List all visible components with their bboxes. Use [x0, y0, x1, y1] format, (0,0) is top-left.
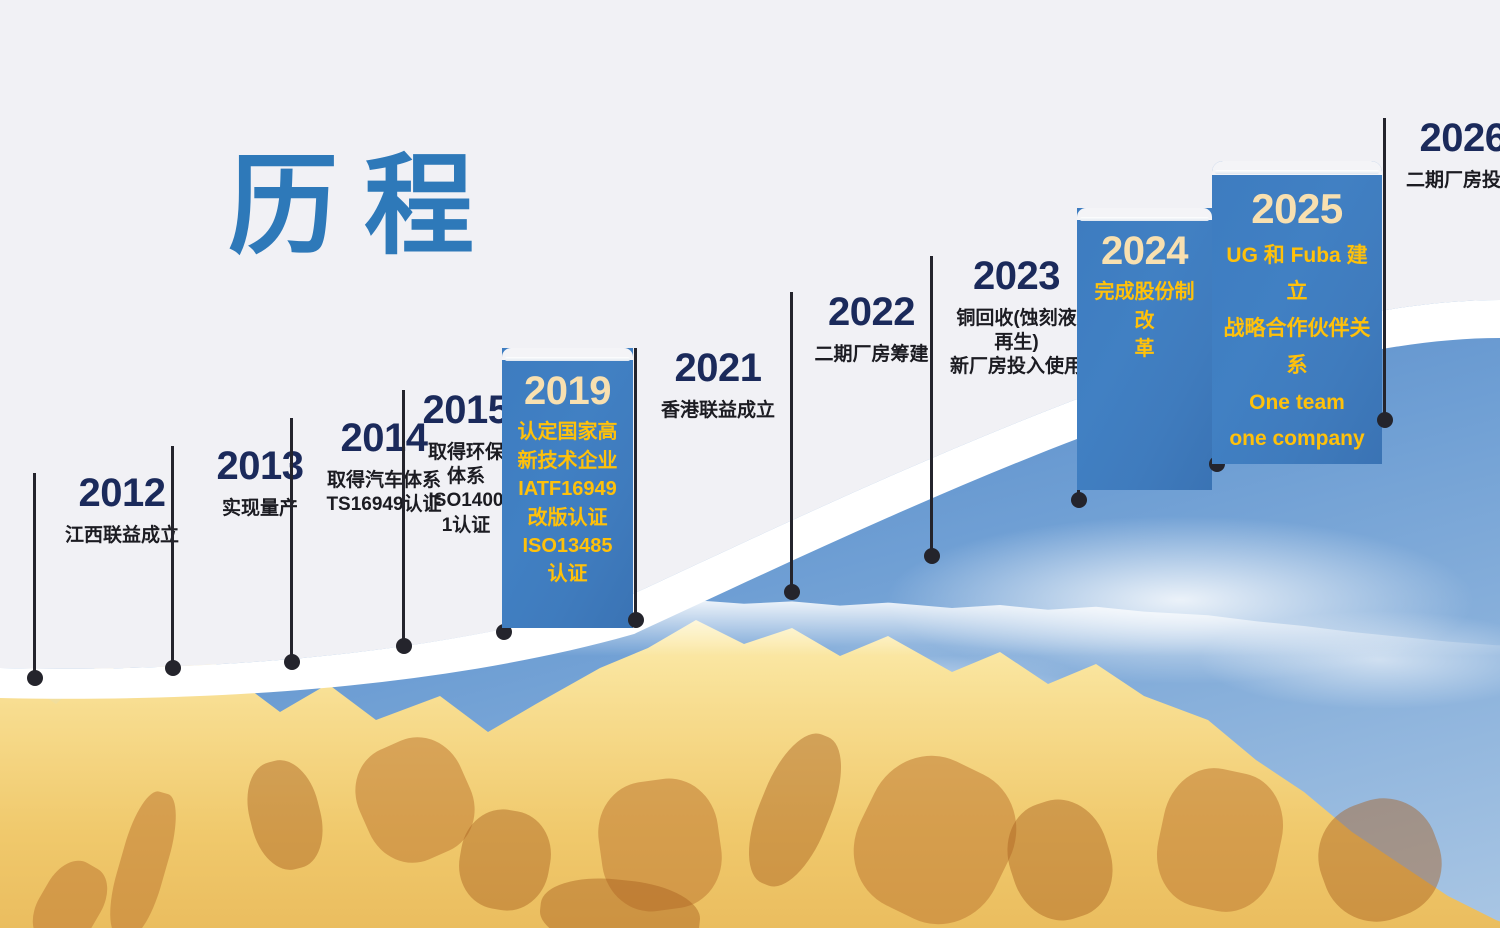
- milestone-dot: [784, 584, 800, 600]
- milestone-year: 2023: [944, 256, 1089, 298]
- milestone-dot: [396, 638, 412, 654]
- milestone-connector-line: [33, 473, 36, 678]
- page-title: 历程: [228, 152, 500, 262]
- milestone-year: 2019: [510, 370, 625, 412]
- milestone-year: 2024: [1085, 230, 1204, 272]
- milestone-connector-line: [634, 348, 637, 620]
- milestone-2025-panel[interactable]: 2025 UG 和 Fuba 建立 战略合作伙伴关系 One team one …: [1212, 161, 1382, 464]
- milestone-dot: [284, 654, 300, 670]
- milestone-dot: [924, 548, 940, 564]
- milestone-description: 香港联益成立: [648, 399, 788, 423]
- milestone-description: 江西联益成立: [47, 524, 197, 548]
- milestone-description: 二期厂房投产: [1397, 169, 1500, 193]
- milestone-description: 取得环保 体系 ISO1400 1认证: [416, 441, 516, 538]
- milestone-description: 二期厂房筹建: [804, 343, 939, 367]
- milestone-connector-line: [930, 256, 933, 556]
- milestone-year: 2026: [1397, 118, 1500, 160]
- milestone-dot: [628, 612, 644, 628]
- milestone-connector-line: [290, 418, 293, 662]
- timeline-infographic: 历程 2012 江西联益成立 2013 实现量产 2014 取得汽车体系 TS1…: [0, 0, 1500, 928]
- milestone-year: 2022: [804, 292, 939, 334]
- milestone-year: 2012: [47, 473, 197, 515]
- milestone-description: 铜回收(蚀刻液 再生) 新厂房投入使用: [944, 307, 1089, 380]
- milestone-2019-panel[interactable]: 2019 认定国家高 新技术企业 IATF16949 改版认证 ISO13485…: [502, 348, 633, 628]
- milestone-year: 2015: [416, 390, 516, 432]
- milestone-connector-line: [171, 446, 174, 668]
- milestone-dot: [27, 670, 43, 686]
- milestone-connector-line: [402, 390, 405, 646]
- milestone-year: 2025: [1220, 187, 1374, 232]
- panel-top-highlight: [1215, 170, 1379, 174]
- milestone-description: 完成股份制改 革: [1085, 278, 1204, 363]
- milestone-dot: [165, 660, 181, 676]
- milestone-2024-panel[interactable]: 2024 完成股份制改 革: [1077, 208, 1212, 490]
- milestone-dot: [1071, 492, 1087, 508]
- milestone-connector-line: [790, 292, 793, 592]
- milestone-dot: [1377, 412, 1393, 428]
- milestone-description: 认定国家高 新技术企业 IATF16949 改版认证 ISO13485 认证: [510, 418, 625, 588]
- panel-top-highlight: [1080, 217, 1209, 221]
- panel-top-highlight: [505, 357, 630, 361]
- milestone-description: UG 和 Fuba 建立 战略合作伙伴关系 One team one compa…: [1220, 238, 1374, 459]
- milestone-year: 2021: [648, 348, 788, 390]
- milestone-connector-line: [1383, 118, 1386, 420]
